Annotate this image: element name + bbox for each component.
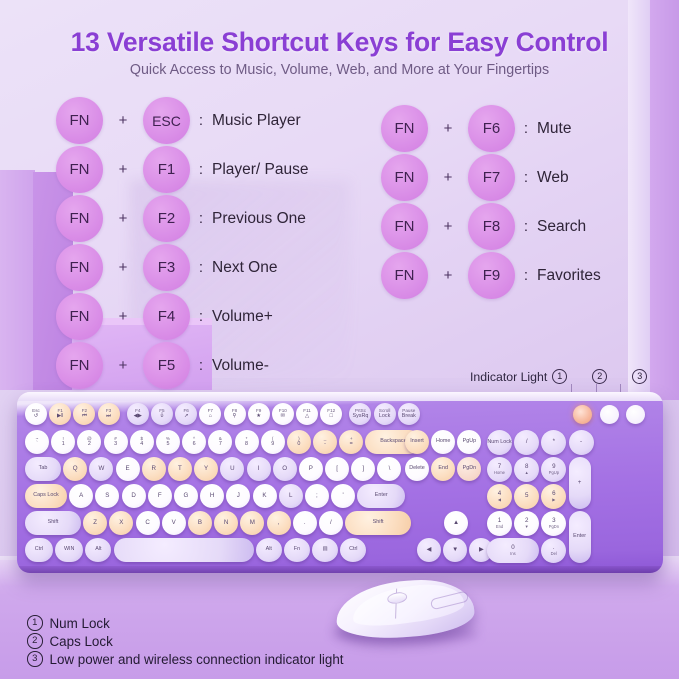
key-legend-main: [: [336, 466, 338, 473]
keyboard-key[interactable]: F7⌂: [199, 403, 221, 425]
indicator-light-caption: Indicator Light 1 2 3: [470, 369, 647, 384]
keyboard-key[interactable]: Tab: [25, 457, 61, 481]
shortcut-function-key: F6: [468, 105, 515, 152]
shortcut-row: FN+F5:Volume-: [56, 341, 309, 390]
keyboard-key[interactable]: D: [122, 484, 146, 508]
keyboard-key[interactable]: Delete: [405, 457, 429, 481]
keyboard-key[interactable]: Alt: [256, 538, 282, 562]
key-legend-main: 6: [193, 442, 196, 448]
keyboard-key[interactable]: F3⏭: [98, 403, 120, 425]
shortcut-list-right: FN+F6:MuteFN+F7:WebFN+F8:SearchFN+F9:Fav…: [381, 104, 601, 300]
keyboard-key[interactable]: *: [541, 430, 566, 455]
keyboard-key[interactable]: Ctrl: [340, 538, 366, 562]
shortcut-action-label: Previous One: [212, 210, 306, 228]
keyboard-key[interactable]: Ctrl: [25, 538, 53, 562]
shortcut-plus-sign: +: [428, 169, 468, 186]
shortcut-plus-sign: +: [103, 161, 143, 178]
keyboard-key[interactable]: 0Ins: [487, 538, 539, 563]
keyboard-key[interactable]: PgUp: [457, 430, 481, 454]
keyboard-key[interactable]: F4◀▶: [127, 403, 149, 425]
key-legend-top: F12: [327, 409, 335, 414]
shortcut-row: FN+F6:Mute: [381, 104, 601, 153]
shortcut-modifier-key: FN: [381, 203, 428, 250]
keyboard-key[interactable]: !1: [51, 430, 75, 454]
page-subtitle: Quick Access to Music, Volume, Web, and …: [0, 62, 679, 78]
key-legend-main: 7: [219, 442, 222, 448]
indicator-marker-2: 2: [592, 369, 607, 384]
keyboard-key[interactable]: ▼: [443, 538, 467, 562]
keyboard-row: InsertHomePgUp: [405, 430, 481, 454]
key-legend-top: Esc: [32, 409, 40, 414]
keyboard-key[interactable]: I: [247, 457, 271, 481]
keyboard-key[interactable]: F5ὔ: [151, 403, 173, 425]
key-legend-main: 2: [88, 442, 91, 448]
key-legend-main: J: [237, 493, 240, 500]
keyboard-key[interactable]: 7Home: [487, 457, 512, 482]
legend-item: 1Num Lock: [27, 614, 344, 632]
key-legend-main: Enter: [573, 534, 586, 540]
shortcut-modifier-key: FN: [381, 105, 428, 152]
shortcut-modifier-key: FN: [56, 97, 103, 144]
keyboard-key[interactable]: PrtScSysRq: [349, 403, 371, 425]
keyboard-key[interactable]: W: [89, 457, 113, 481]
key-legend-sub: Ins: [510, 552, 515, 556]
keyboard-key[interactable]: F: [148, 484, 172, 508]
key-legend-main: ⏮: [82, 414, 87, 420]
keyboard-key[interactable]: 5: [514, 484, 539, 509]
shortcut-modifier-key: FN: [56, 146, 103, 193]
keyboard-key[interactable]: P: [299, 457, 323, 481]
legend-item: 3Low power and wireless connection indic…: [27, 650, 344, 668]
key-legend-main: B: [198, 520, 202, 527]
keyboard-key[interactable]: F8⚲: [224, 403, 246, 425]
legend-item: 2Caps Lock: [27, 632, 344, 650]
keyboard-key[interactable]: ,: [267, 511, 291, 535]
key-legend-main: ': [342, 493, 343, 500]
keyboard-key[interactable]: Insert: [405, 430, 429, 454]
key-legend-main: I: [258, 466, 260, 473]
key-legend-main: ↗: [184, 414, 189, 420]
key-legend-main: ὔ: [160, 414, 163, 420]
key-legend-top: &: [219, 437, 222, 442]
keyboard-key[interactable]: M: [240, 511, 264, 535]
key-legend-top: %: [166, 437, 170, 442]
keyboard-key[interactable]: @2: [77, 430, 101, 454]
key-legend-main: △: [305, 414, 309, 420]
key-legend-main: Insert: [410, 439, 423, 445]
key-legend-main: Tab: [39, 466, 48, 472]
keyboard-key[interactable]: F6↗: [175, 403, 197, 425]
key-legend-main: Delete: [409, 466, 425, 472]
legend-number: 3: [27, 651, 43, 667]
keyboard-row: Num Lock/*-: [487, 430, 594, 455]
key-legend-main: `: [36, 442, 38, 448]
keyboard-key[interactable]: Home: [431, 430, 455, 454]
keyboard-key[interactable]: A: [69, 484, 93, 508]
key-legend-main: ▶‖: [57, 414, 63, 420]
keyboard-key[interactable]: ScrollLock: [374, 403, 396, 425]
key-legend-main: WIN: [64, 547, 74, 553]
keyboard-key[interactable]: [: [325, 457, 349, 481]
keyboard-key[interactable]: F1▶‖: [49, 403, 71, 425]
key-legend-main: -: [580, 439, 582, 446]
shortcut-colon: :: [190, 259, 212, 276]
key-legend-main: 4: [140, 442, 143, 448]
keyboard-row: 0Ins.Del: [487, 538, 566, 563]
keyboard-key[interactable]: O: [273, 457, 297, 481]
keyboard-key[interactable]: End: [431, 457, 455, 481]
key-legend-sub: ▶: [552, 498, 555, 502]
key-legend-main: ✉: [281, 414, 286, 420]
key-legend-main: 5: [525, 493, 528, 500]
keyboard-key[interactable]: /: [514, 430, 539, 455]
keyboard-key[interactable]: U: [220, 457, 244, 481]
key-legend-main: 9: [271, 442, 274, 448]
keyboard-key[interactable]: Esc↺: [25, 403, 47, 425]
shortcut-action-label: Favorites: [537, 267, 601, 285]
keyboard-key[interactable]: Shift: [345, 511, 411, 535]
shortcut-function-key: F5: [143, 342, 190, 389]
keyboard-key[interactable]: ▲: [444, 511, 468, 535]
background-right-band: [628, 0, 650, 400]
key-legend-top: F3: [106, 409, 111, 414]
key-legend-top: !: [63, 437, 64, 442]
prop-tall-box-left: [0, 170, 35, 390]
key-legend-main: Y: [204, 466, 208, 473]
keyboard-key[interactable]: -: [569, 430, 594, 455]
key-legend-sub: ▼: [525, 525, 529, 529]
keyboard-key[interactable]: ^6: [182, 430, 206, 454]
keyboard-key[interactable]: #3: [104, 430, 128, 454]
shortcut-modifier-key: FN: [381, 154, 428, 201]
key-legend-top: F4: [135, 409, 140, 414]
key-legend-main: W: [98, 466, 104, 473]
shortcut-colon: :: [515, 169, 537, 186]
key-legend-main: L: [289, 493, 292, 500]
legend-number: 2: [27, 633, 43, 649]
keyboard-key[interactable]: F11△: [296, 403, 318, 425]
shortcut-colon: :: [190, 210, 212, 227]
keyboard-key[interactable]: Caps Lock: [25, 484, 67, 508]
key-legend-main: ,: [278, 520, 280, 527]
key-legend-main: Q: [73, 466, 78, 473]
key-legend-main: Ctrl: [35, 547, 43, 553]
keyboard-key[interactable]: V: [162, 511, 186, 535]
keyboard-key[interactable]: .Del: [541, 538, 566, 563]
keyboard-key[interactable]: (9: [261, 430, 285, 454]
keyboard-row: ~`!1@2#3$4%5^6&7*8(9)0_-+=Backspace: [25, 430, 421, 454]
keyboard-key[interactable]: F10✉: [272, 403, 294, 425]
keyboard-key[interactable]: T: [168, 457, 192, 481]
key-legend-main: ↺: [34, 414, 39, 420]
key-legend-main: ▲: [453, 520, 459, 527]
keyboard-key[interactable]: K: [253, 484, 277, 508]
shortcut-plus-sign: +: [103, 112, 143, 129]
indicator-marker-1: 1: [552, 369, 567, 384]
keyboard-key[interactable]: PauseBreak: [398, 403, 420, 425]
key-legend-main: ⌂: [209, 414, 212, 420]
key-legend-main: □: [330, 414, 333, 420]
indicator-led-3: [626, 405, 645, 424]
key-legend-main: N: [224, 520, 228, 527]
keyboard-key[interactable]: R: [142, 457, 166, 481]
key-legend-main: S: [105, 493, 109, 500]
key-legend-main: 8: [245, 442, 248, 448]
keyboard-key[interactable]: +: [569, 457, 591, 509]
keyboard-key[interactable]: B: [188, 511, 212, 535]
keyboard-key[interactable]: N: [214, 511, 238, 535]
key-legend-top: ): [298, 437, 300, 442]
page-title: 13 Versatile Shortcut Keys for Easy Cont…: [0, 27, 679, 58]
legend-number: 1: [27, 615, 43, 631]
keyboard-key[interactable]: Shift: [25, 511, 81, 535]
keyboard-row: Caps LockASDFGHJKL;'Enter: [25, 484, 405, 508]
key-legend-main: Home: [436, 439, 450, 445]
keyboard-key[interactable]: E: [116, 457, 140, 481]
keyboard[interactable]: Esc↺F1▶‖F2⏮F3⏭F4◀▶F5ὔF6↗F7⌂F8⚲F9★F10✉F11…: [17, 392, 663, 573]
key-legend-top: #: [114, 437, 117, 442]
key-legend-main: Alt: [266, 547, 272, 553]
keyboard-key[interactable]: Enter: [569, 511, 591, 563]
keyboard-key[interactable]: F12□: [320, 403, 342, 425]
keyboard-key[interactable]: X: [109, 511, 133, 535]
indicator-light-label: Indicator Light: [470, 370, 547, 384]
key-legend-top: *: [246, 437, 248, 442]
key-legend-main: Shift: [48, 520, 59, 526]
key-legend-main: O: [282, 466, 287, 473]
shortcut-plus-sign: +: [103, 357, 143, 374]
shortcut-function-key: ESC: [143, 97, 190, 144]
keyboard-key[interactable]: F9★: [248, 403, 270, 425]
key-legend-main: .: [304, 520, 306, 527]
key-legend-main: Shift: [373, 520, 384, 526]
key-legend-main: ▼: [452, 547, 458, 554]
keyboard-key[interactable]: 3PgDn: [541, 511, 566, 536]
keyboard-key[interactable]: J: [226, 484, 250, 508]
keyboard-row: Esc↺F1▶‖F2⏮F3⏭F4◀▶F5ὔF6↗F7⌂F8⚲F9★F10✉F11…: [25, 403, 420, 425]
keyboard-key[interactable]: \: [377, 457, 401, 481]
keyboard-key[interactable]: _-: [313, 430, 337, 454]
shortcut-row: FN+F4:Volume+: [56, 292, 309, 341]
key-legend-main: SysRq: [352, 414, 368, 420]
keyboard-key[interactable]: L: [279, 484, 303, 508]
shortcut-colon: :: [190, 308, 212, 325]
shortcut-function-key: F8: [468, 203, 515, 250]
key-legend-main: Caps Lock: [33, 493, 58, 499]
shortcut-action-label: Search: [537, 218, 586, 236]
legend-text: Num Lock: [50, 616, 110, 631]
key-legend-main: 1: [62, 442, 65, 448]
keyboard-key[interactable]: *8: [235, 430, 259, 454]
key-legend-top: PrtSc: [355, 409, 366, 414]
key-legend-main: ★: [256, 414, 261, 420]
keyboard-key[interactable]: +=: [339, 430, 363, 454]
keyboard-row: ▲: [444, 511, 468, 535]
key-legend-top: F2: [82, 409, 87, 414]
keyboard-key[interactable]: H: [200, 484, 224, 508]
key-legend-top: F7: [208, 409, 213, 414]
key-legend-main: ⚲: [233, 414, 237, 420]
shortcut-colon: :: [515, 218, 537, 235]
key-legend-main: A: [79, 493, 83, 500]
key-legend-sub: End: [496, 525, 503, 529]
key-legend-main: 5: [166, 442, 169, 448]
shortcut-colon: :: [515, 267, 537, 284]
shortcut-row: FN+F7:Web: [381, 153, 601, 202]
key-legend-top: F6: [183, 409, 188, 414]
key-legend-main: PgDn: [463, 466, 477, 472]
key-legend-sub: Home: [494, 471, 505, 475]
key-legend-main: PgUp: [463, 439, 477, 445]
keyboard-key[interactable]: [114, 538, 254, 562]
shortcut-colon: :: [190, 357, 212, 374]
key-legend-top: Pause: [402, 409, 415, 414]
keyboard-key[interactable]: .: [293, 511, 317, 535]
key-legend-top: +: [350, 437, 353, 442]
key-legend-main: \: [389, 466, 391, 473]
keyboard-key[interactable]: Z: [83, 511, 107, 535]
keyboard-row: CtrlWINAltAltFn▤Ctrl: [25, 538, 366, 562]
key-legend-main: ⏭: [106, 414, 111, 420]
background-right-wall: [650, 0, 679, 400]
shortcut-plus-sign: +: [428, 267, 468, 284]
keyboard-key[interactable]: &7: [208, 430, 232, 454]
keyboard-key[interactable]: Y: [194, 457, 218, 481]
mouse[interactable]: [330, 577, 480, 643]
keyboard-row: ShiftZXCVBNM,./Shift: [25, 511, 411, 535]
keyboard-key[interactable]: 1End: [487, 511, 512, 536]
keyboard-key[interactable]: 8▲: [514, 457, 539, 482]
key-legend-main: 3: [114, 442, 117, 448]
keyboard-key[interactable]: $4: [130, 430, 154, 454]
key-legend-sub: ▲: [525, 471, 529, 475]
key-legend-main: Z: [93, 520, 97, 527]
key-legend-main: 0: [297, 442, 300, 448]
shortcut-modifier-key: FN: [381, 252, 428, 299]
legend-text: Low power and wireless connection indica…: [50, 652, 344, 667]
keyboard-key[interactable]: /: [319, 511, 343, 535]
key-legend-main: End: [438, 466, 448, 472]
key-legend-main: V: [172, 520, 176, 527]
keyboard-row: TabQWERTYUIOP[]\: [25, 457, 401, 481]
key-legend-main: ▶: [479, 547, 484, 554]
keyboard-row: DeleteEndPgDn: [405, 457, 481, 481]
key-legend-sub: PgUp: [549, 471, 559, 475]
key-legend-top: _: [324, 437, 327, 442]
keyboard-key[interactable]: 4◀: [487, 484, 512, 509]
key-legend-top: Scroll: [379, 409, 391, 414]
keyboard-key[interactable]: )0: [287, 430, 311, 454]
key-legend-main: R: [152, 466, 156, 473]
key-legend-main: Num Lock: [487, 440, 511, 446]
keyboard-key[interactable]: ▤: [312, 538, 338, 562]
key-legend-sub: PgDn: [549, 525, 559, 529]
keyboard-key[interactable]: ': [331, 484, 355, 508]
keyboard-key[interactable]: Num Lock: [487, 430, 512, 455]
shortcut-function-key: F7: [468, 154, 515, 201]
shortcut-row: FN+ESC:Music Player: [56, 96, 309, 145]
keyboard-key[interactable]: Alt: [85, 538, 111, 562]
keyboard-key[interactable]: Fn: [284, 538, 310, 562]
key-legend-main: D: [131, 493, 135, 500]
key-legend-sub: ◀: [498, 498, 501, 502]
key-legend-main: M: [250, 520, 255, 527]
keyboard-key[interactable]: ~`: [25, 430, 49, 454]
keyboard-key[interactable]: ]: [351, 457, 375, 481]
key-legend-main: ◀▶: [134, 414, 142, 420]
shortcut-function-key: F2: [143, 195, 190, 242]
key-legend-top: @: [87, 437, 92, 442]
keyboard-key[interactable]: PgDn: [457, 457, 481, 481]
product-infographic: 13 Versatile Shortcut Keys for Easy Cont…: [0, 0, 679, 679]
shortcut-plus-sign: +: [103, 308, 143, 325]
key-legend-main: G: [184, 493, 189, 500]
keyboard-key[interactable]: ;: [305, 484, 329, 508]
shortcut-modifier-key: FN: [56, 293, 103, 340]
keyboard-row: 4◀56▶: [487, 484, 566, 509]
key-legend-main: F: [158, 493, 162, 500]
shortcut-function-key: F1: [143, 146, 190, 193]
shortcut-action-label: Next One: [212, 259, 277, 277]
shortcut-row: FN+F9:Favorites: [381, 251, 601, 300]
keyboard-key[interactable]: F2⏮: [73, 403, 95, 425]
key-legend-top: F8: [232, 409, 237, 414]
shortcut-action-label: Volume-: [212, 357, 269, 375]
key-legend-main: -: [324, 442, 326, 448]
key-legend-main: Backspace: [380, 439, 406, 445]
key-legend-main: U: [230, 466, 234, 473]
key-legend-main: H: [210, 493, 214, 500]
key-legend-main: ▤: [323, 547, 328, 553]
shortcut-plus-sign: +: [428, 120, 468, 137]
shortcut-colon: :: [190, 112, 212, 129]
keyboard-row: ◀▼▶: [417, 538, 493, 562]
keyboard-key[interactable]: Enter: [357, 484, 405, 508]
key-legend-main: Alt: [95, 547, 101, 553]
keyboard-key[interactable]: G: [174, 484, 198, 508]
keyboard-key[interactable]: ◀: [417, 538, 441, 562]
shortcut-modifier-key: FN: [56, 195, 103, 242]
indicator-led-2: [600, 405, 619, 424]
keyboard-key[interactable]: Q: [63, 457, 87, 481]
shortcut-function-key: F3: [143, 244, 190, 291]
key-legend-main: Enter: [375, 493, 388, 499]
shortcut-modifier-key: FN: [56, 342, 103, 389]
shortcut-row: FN+F3:Next One: [56, 243, 309, 292]
key-legend-top: (: [272, 437, 274, 442]
keyboard-key[interactable]: 9PgUp: [541, 457, 566, 482]
key-legend-main: C: [145, 520, 149, 527]
key-legend-top: $: [140, 437, 143, 442]
key-legend-top: F9: [256, 409, 261, 414]
keyboard-key[interactable]: C: [136, 511, 160, 535]
key-legend-main: ◀: [427, 547, 432, 554]
key-legend-main: E: [125, 466, 129, 473]
key-legend-main: +: [578, 480, 582, 487]
key-legend-top: F10: [279, 409, 287, 414]
key-legend-main: /: [330, 520, 332, 527]
key-legend-top: F1: [58, 409, 63, 414]
keyboard-key[interactable]: WIN: [55, 538, 83, 562]
keyboard-key[interactable]: S: [95, 484, 119, 508]
key-legend-main: ;: [316, 493, 318, 500]
key-legend-main: =: [350, 442, 353, 448]
shortcut-action-label: Mute: [537, 120, 571, 138]
keyboard-key[interactable]: 2▼: [514, 511, 539, 536]
keyboard-key[interactable]: 6▶: [541, 484, 566, 509]
keyboard-key[interactable]: %5: [156, 430, 180, 454]
indicator-marker-3: 3: [632, 369, 647, 384]
